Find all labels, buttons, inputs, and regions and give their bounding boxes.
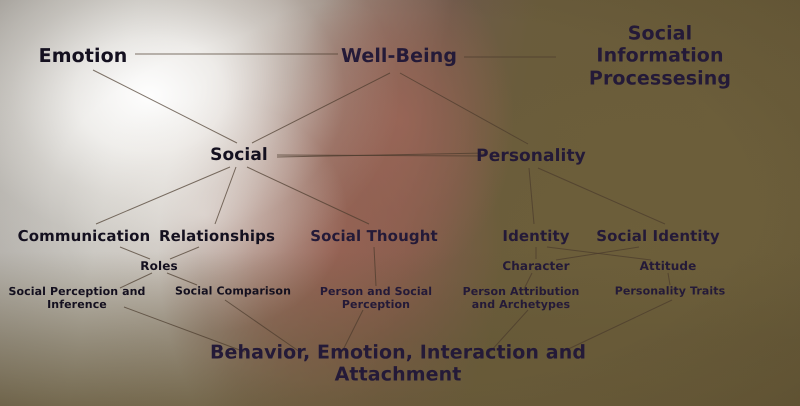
- node-person-social-perception[interactable]: Person and Social Perception: [320, 286, 432, 312]
- node-social-thought[interactable]: Social Thought: [310, 228, 438, 246]
- node-person-attribution[interactable]: Person Attribution and Archetypes: [463, 286, 580, 312]
- node-well-being[interactable]: Well-Being: [341, 45, 457, 67]
- edge-attitude-to-personality-traits: [668, 273, 670, 285]
- node-social-perception[interactable]: Social Perception and Inference: [8, 286, 145, 312]
- concept-map-canvas: EmotionWell-BeingSocial Information Proc…: [0, 0, 800, 406]
- edge-well-being-to-personality: [400, 73, 528, 144]
- edge-personality-to-social-identity: [538, 168, 665, 224]
- edge-social-thought-to-person-social-perception: [374, 247, 376, 286]
- edge-social-to-communication: [96, 167, 230, 224]
- edge-relationships-to-roles: [170, 247, 199, 259]
- node-identity[interactable]: Identity: [502, 228, 569, 246]
- node-character[interactable]: Character: [502, 259, 569, 273]
- edge-social-to-social-thought: [247, 167, 369, 224]
- node-social[interactable]: Social: [210, 145, 268, 165]
- edge-personality-to-identity: [529, 168, 534, 224]
- node-behavior-bottom[interactable]: Behavior, Emotion, Interaction and Attac…: [197, 342, 599, 387]
- node-social-comparison[interactable]: Social Comparison: [175, 286, 291, 299]
- edge-roles-to-social-comparison: [167, 273, 197, 285]
- node-attitude[interactable]: Attitude: [640, 259, 697, 273]
- node-personality-traits[interactable]: Personality Traits: [615, 286, 726, 299]
- node-communication[interactable]: Communication: [18, 228, 151, 246]
- edge-emotion-to-social: [93, 70, 237, 143]
- edge-social-to-relationships: [215, 167, 236, 224]
- node-social-identity[interactable]: Social Identity: [596, 228, 720, 246]
- node-social-info-processing[interactable]: Social Information Processesing: [589, 22, 731, 89]
- node-personality[interactable]: Personality: [476, 146, 586, 166]
- node-emotion[interactable]: Emotion: [39, 45, 128, 67]
- edge-communication-to-roles: [120, 247, 150, 259]
- node-roles[interactable]: Roles: [140, 259, 177, 273]
- node-relationships[interactable]: Relationships: [159, 228, 275, 246]
- edge-well-being-to-social: [252, 73, 390, 143]
